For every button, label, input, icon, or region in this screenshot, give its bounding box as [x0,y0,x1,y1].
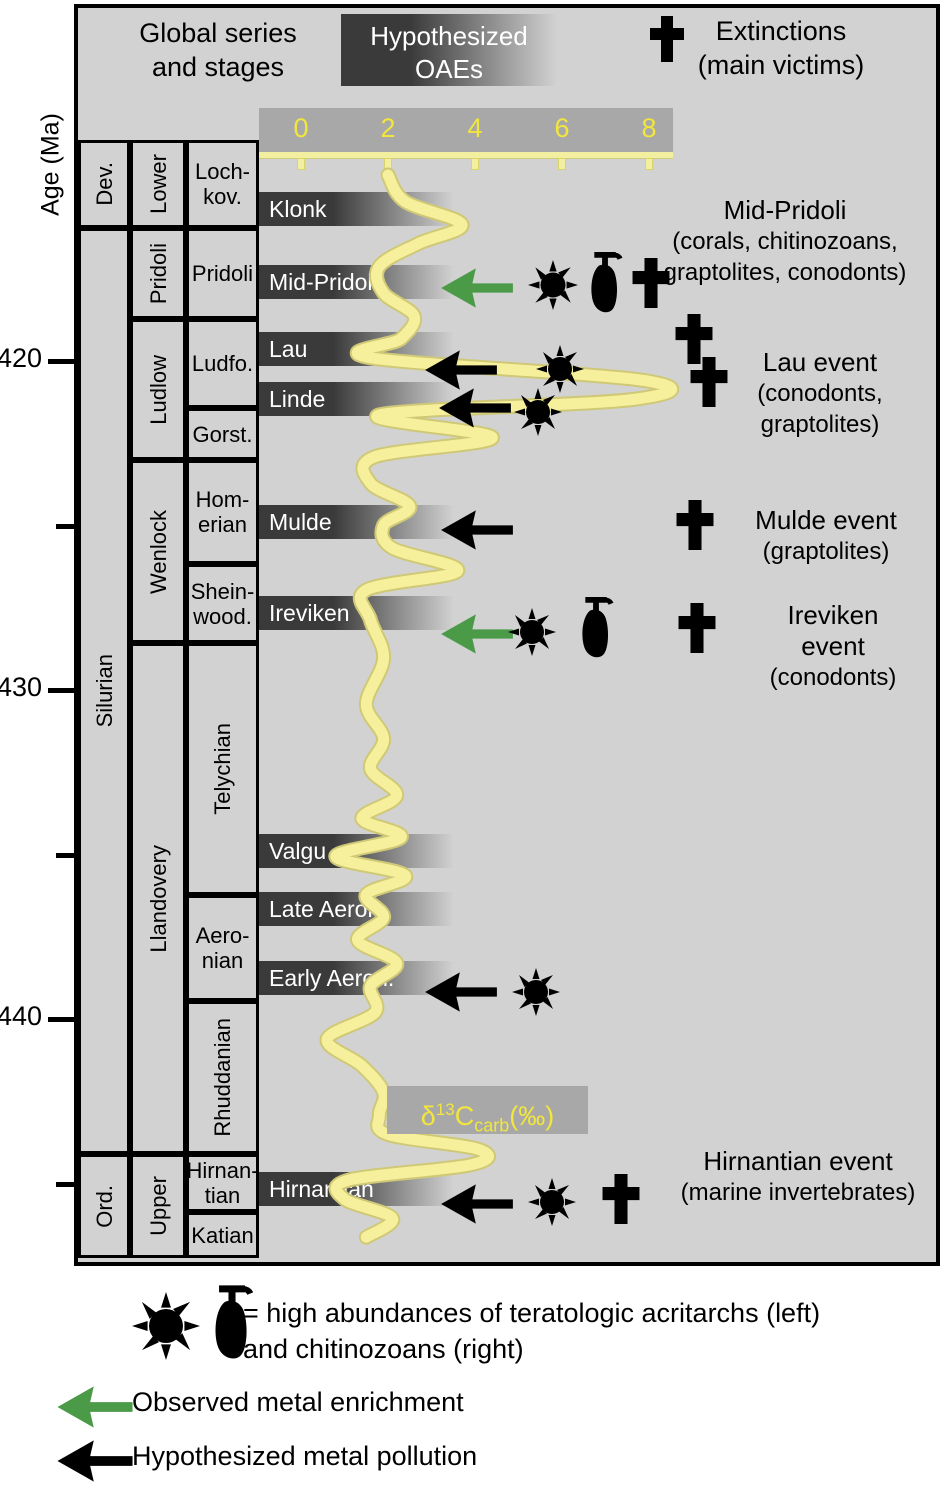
stratigraphy-series-label: Ludlow [146,355,171,425]
stratigraphy-stage-cell: Hirnan- tian [186,1154,259,1212]
stratigraphy-series-cell: Wenlock [130,460,186,643]
event-name: Mulde event [706,505,946,536]
stratigraphy-system-label: Silurian [92,654,117,727]
acritarch-icon [508,608,556,661]
extinction-cross-icon [602,1174,640,1229]
black-arrow-icon [424,970,498,1019]
black-arrow-icon [438,386,512,435]
stratigraphy-stage-label: Hirnan- tian [186,1158,258,1208]
age-tick-mark [48,1017,74,1022]
stratigraphy-stage-label: Ludfo. [192,351,253,376]
stratigraphy-series-cell: Upper [130,1154,186,1258]
acritarch-icon [514,388,562,441]
age-tick-label: 420 [0,343,42,374]
age-tick-mark [56,853,74,858]
acritarch-icon [528,260,578,315]
age-tick-mark [48,359,74,364]
event-name: Hirnantian event [650,1146,946,1177]
acritarch-icon [512,968,560,1021]
event-name: Mid-Pridoli [625,195,945,226]
stratigraphy-system-label: Dev. [92,162,117,206]
stratigraphy-system-cell: Ord. [78,1154,130,1258]
event-victims: (conodonts, graptolites) [700,378,940,440]
stratigraphy-series-cell: Lower [130,140,186,228]
event-label: Hirnantian event(marine invertebrates) [650,1146,946,1208]
d13c-tick-label: 4 [455,113,495,144]
age-tick-mark [56,524,74,529]
stratigraphy-stage-cell: Telychian [186,643,259,895]
stratigraphy-series-label: Wenlock [146,510,171,594]
age-axis-label: Age (Ma) [37,100,66,230]
column-header-extinctions: Extinctions (main victims) [626,14,936,82]
carbon-symbol: C [455,1101,475,1131]
stratigraphy-stage-label: Gorst. [193,422,253,447]
stratigraphy-stage-label: Aero- nian [196,923,250,973]
chitinozoan-icon [583,250,627,321]
legend-black-arrow-icon [55,1438,135,1489]
stratigraphy-stage-cell: Gorst. [186,408,259,460]
stratigraphy-stage-cell: Rhuddanian [186,1001,259,1154]
stratigraphy-stage-label: Pridoli [192,261,253,286]
green-arrow-icon [440,612,514,661]
d13c-tick-label: 2 [368,113,408,144]
event-victims: (corals, chitinozoans, graptolites, cono… [625,226,945,288]
black-arrow-icon [440,508,514,557]
event-victims: (marine invertebrates) [650,1177,946,1208]
black-arrow-icon [440,1182,514,1231]
legend-acritarch-label: = high abundances of teratologic acritar… [243,1295,933,1367]
event-label: Mid-Pridoli(corals, chitinozoans, grapto… [625,195,945,288]
stratigraphy-series-label: Lower [146,154,171,214]
carb-subscript: carb [474,1115,509,1135]
event-name: Lau event [700,347,940,378]
d13c-tick-label: 6 [542,113,582,144]
column-header-hypothesized-oaes: Hypothesized OAEs [341,14,557,86]
stratigraphy-stage-cell: Aero- nian [186,895,259,1001]
stratigraphy-stage-cell: Hom- erian [186,460,259,564]
extinction-cross-icon [678,603,716,658]
d13c-axis-title: δ13Ccarb(‰) [387,1086,588,1134]
event-label: Mulde event(graptolites) [706,505,946,567]
stratigraphy-system-cell: Dev. [78,140,130,228]
legend-green-arrow-icon [55,1384,135,1435]
stratigraphy-system-label: Ord. [92,1185,117,1228]
permil-unit: (‰) [509,1101,554,1131]
stratigraphy-series-label: Pridoli [146,243,171,304]
stratigraphy-stage-label: Katian [191,1223,253,1248]
stratigraphy-stage-label: Rhuddanian [210,1018,235,1137]
event-name: Ireviken event [718,600,946,662]
stratigraphy-stage-label: Loch- kov. [195,159,250,209]
stratigraphy-stage-cell: Katian [186,1212,259,1258]
legend-black-arrow-label: Hypothesized metal pollution [132,1438,477,1474]
legend-acritarch-icon [132,1292,200,1365]
stratigraphy-system-cell: Silurian [78,228,130,1154]
stratigraphy-series-label: Llandovery [146,845,171,953]
age-tick-label: 440 [0,1001,42,1032]
age-tick-mark [48,688,74,693]
isotope-number: 13 [436,1100,455,1119]
legend-green-arrow-label: Observed metal enrichment [132,1384,464,1420]
green-arrow-icon [440,266,514,315]
stratigraphy-stage-cell: Ludfo. [186,319,259,408]
stratigraphy-series-cell: Llandovery [130,643,186,1154]
chitinozoan-icon [574,595,618,666]
stratigraphy-series-cell: Pridoli [130,228,186,319]
event-label: Lau event(conodonts, graptolites) [700,347,940,440]
event-victims: (conodonts) [718,662,946,693]
stratigraphy-stage-label: Shein- wood. [191,579,255,629]
stratigraphy-stage-cell: Shein- wood. [186,564,259,643]
acritarch-icon [528,1178,576,1231]
stratigraphy-series-cell: Ludlow [130,319,186,460]
stratigraphy-stage-cell: Pridoli [186,228,259,319]
stratigraphy-series-label: Upper [146,1176,171,1236]
stratigraphy-stage-cell: Loch- kov. [186,140,259,228]
column-header-global-series: Global series and stages [88,16,348,84]
stratigraphy-stage-label: Telychian [210,723,235,815]
delta-symbol: δ [421,1101,436,1131]
event-label: Ireviken event(conodonts) [718,600,946,693]
d13c-tick-label: 0 [281,113,321,144]
age-tick-mark [56,1182,74,1187]
d13c-tick-label: 8 [629,113,669,144]
event-victims: (graptolites) [706,536,946,567]
age-tick-label: 430 [0,672,42,703]
stratigraphy-stage-label: Hom- erian [196,487,250,537]
